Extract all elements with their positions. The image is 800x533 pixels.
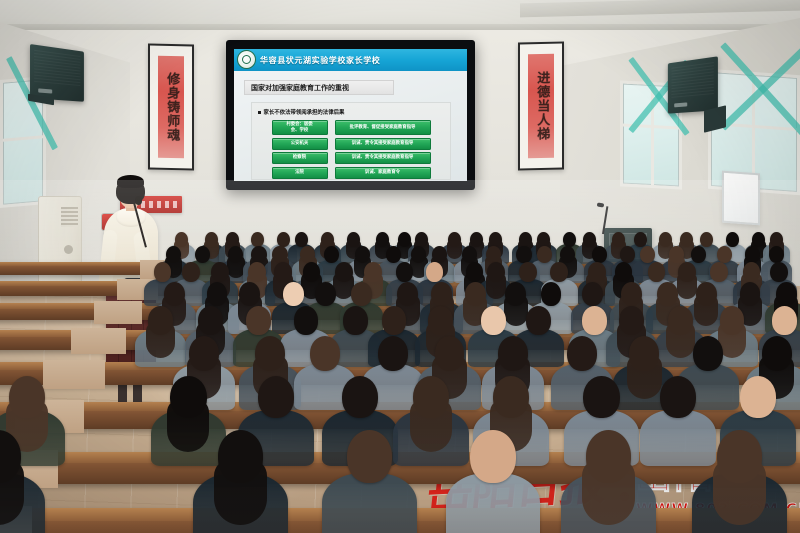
slide-bullet: 家长不依法带领阅承担的法律后果 xyxy=(258,108,444,116)
audience-head xyxy=(426,262,444,282)
audience-head xyxy=(640,246,655,263)
slide-cell-consequence: 训诫、责令其接受家庭教育指导 xyxy=(335,152,431,164)
slide-subtitle-box: 国家对加强家庭教育工作的重视 xyxy=(244,80,394,95)
wall-speaker-left xyxy=(30,44,84,102)
audience-head xyxy=(693,336,723,371)
audience-long-hair xyxy=(214,459,267,526)
audience-head xyxy=(550,262,568,282)
slide-bullet-text: 家长不依法带领阅承担的法律后果 xyxy=(264,108,345,116)
audience-head xyxy=(258,376,294,418)
audience-long-hair xyxy=(677,273,697,299)
audience-head xyxy=(740,376,776,418)
slide-table: 村委会：居委 会、学校批评教育、督促接受家庭教育指导公安机关训诫、责令其接受家庭… xyxy=(258,120,444,179)
audience-head xyxy=(251,232,264,247)
slide-cell-consequence: 训诫、家庭教育令 xyxy=(335,167,431,179)
audience-head xyxy=(342,376,378,418)
audience-head xyxy=(691,246,706,263)
audience-head xyxy=(717,246,732,263)
audience-head xyxy=(347,430,393,483)
scroll-right-text: 进德当人梯 xyxy=(534,71,549,141)
audience-head xyxy=(470,430,516,483)
audience-long-hair xyxy=(167,399,209,452)
audience-head xyxy=(563,232,576,247)
audience-head xyxy=(310,336,340,371)
audience-head xyxy=(343,306,368,335)
audience-head xyxy=(582,306,607,335)
slide-table-row: 法院训诫、家庭教育令 xyxy=(272,167,444,179)
presentation-screen: 华容县状元湖实验学校家长学校 国家对加强家庭教育工作的重视 家长不依法带领阅承担… xyxy=(226,40,475,190)
audience-head xyxy=(583,376,619,418)
slide-surface: 华容县状元湖实验学校家长学校 国家对加强家庭教育工作的重视 家长不依法带领阅承担… xyxy=(234,49,467,181)
audience-head xyxy=(324,246,339,263)
audience-head xyxy=(396,262,414,282)
slide-cell-authority: 法院 xyxy=(272,167,328,179)
slide-content-panel: 家长不依法带领阅承担的法律后果 村委会：居委 会、学校批评教育、督促接受家庭教育… xyxy=(251,102,451,180)
slide-title: 华容县状元湖实验学校家长学校 xyxy=(260,55,380,66)
scroll-left-text: 修身铸师魂 xyxy=(164,72,179,142)
audience-head xyxy=(294,306,319,335)
audience-head xyxy=(378,336,408,371)
presenter-hair-top xyxy=(117,175,144,188)
audience-long-hair xyxy=(410,399,452,452)
audience-long-hair xyxy=(694,295,718,325)
audience-long-hair xyxy=(146,322,175,358)
audience-head xyxy=(582,282,603,306)
wall-speaker-right xyxy=(668,56,718,113)
aisle-gap xyxy=(43,360,105,389)
photo-scene: 修身铸师魂 进德当人梯 华容县状元湖实验学校家长学校 国家对加强家庭教育工作的重… xyxy=(0,0,800,533)
audience-long-hair xyxy=(227,256,244,278)
audience-head xyxy=(620,246,635,263)
microphone-icon xyxy=(135,196,142,205)
slide-cell-consequence: 批评教育、督促接受家庭教育指导 xyxy=(335,120,431,135)
audience-head xyxy=(315,282,336,306)
calligraphy-scroll-left: 修身铸师魂 xyxy=(148,44,194,171)
audience-head xyxy=(537,246,552,263)
audience-torso xyxy=(640,410,716,466)
audience-head xyxy=(283,282,304,306)
audience-head xyxy=(277,232,290,247)
audience-head xyxy=(386,246,401,263)
audience-head xyxy=(660,376,696,418)
aisle-gap xyxy=(71,328,126,354)
audience-head xyxy=(295,232,308,247)
audience-head xyxy=(541,282,562,306)
audience-head xyxy=(648,262,666,282)
bullet-square-icon xyxy=(258,111,261,114)
audience-long-hair xyxy=(666,322,695,358)
whiteboard xyxy=(722,171,760,226)
slide-table-row: 村委会：居委 会、学校批评教育、督促接受家庭教育指导 xyxy=(272,120,444,135)
audience-head xyxy=(519,262,537,282)
slide-cell-authority: 村委会：居委 会、学校 xyxy=(272,120,328,135)
audience-long-hair xyxy=(486,273,506,299)
slide-title-bar: 华容县状元湖实验学校家长学校 xyxy=(234,49,467,71)
audience-head xyxy=(772,306,797,335)
audience-long-hair xyxy=(447,240,462,259)
audience-head xyxy=(516,246,531,263)
school-emblem-icon xyxy=(237,50,256,69)
slide-cell-authority: 检察院 xyxy=(272,152,328,164)
slide-subtitle: 国家对加强家庭教育工作的重视 xyxy=(251,83,349,93)
audience-head xyxy=(246,306,271,335)
audience-head xyxy=(526,306,551,335)
slide-table-row: 检察院训诫、责令其接受家庭教育指导 xyxy=(272,152,444,164)
audience-head xyxy=(182,262,200,282)
audience-long-hair xyxy=(504,295,528,325)
audience-head xyxy=(634,232,647,247)
audience-long-hair xyxy=(582,459,635,526)
slide-cell-authority: 公安机关 xyxy=(272,138,328,150)
audience-long-hair xyxy=(713,459,766,526)
audience-head xyxy=(382,306,407,335)
aisle-gap xyxy=(94,301,142,324)
audience-long-hair xyxy=(627,355,662,399)
slide-cell-consequence: 训诫、责令其接受家庭教育指导 xyxy=(335,138,431,150)
audience-head xyxy=(710,262,728,282)
slide-table-row: 公安机关训诫、责令其接受家庭教育指导 xyxy=(272,138,444,150)
calligraphy-scroll-right: 进德当人梯 xyxy=(518,42,564,171)
audience-head xyxy=(700,232,713,247)
audience-head xyxy=(770,262,788,282)
audience-head xyxy=(351,282,372,306)
audience-head xyxy=(481,306,506,335)
audience-head xyxy=(567,336,597,371)
